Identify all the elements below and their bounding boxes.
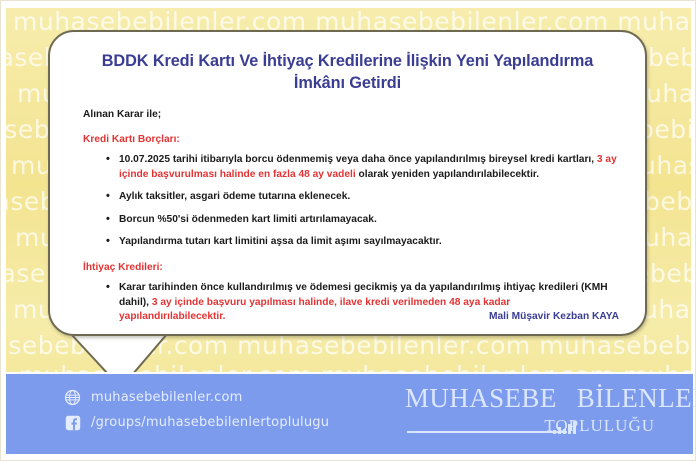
body-text: 10.07.2025 tarihi itibarıyla borcu ödenm… bbox=[119, 154, 597, 165]
section-credit-cards: Kredi Kartı Borçları: 10.07.2025 tarihi … bbox=[72, 133, 623, 250]
body-text: Aylık taksitler, asgari ödeme tutarına e… bbox=[119, 191, 350, 202]
list-item: Aylık taksitler, asgari ödeme tutarına e… bbox=[106, 190, 623, 205]
signature: Mali Müşavir Kezban KAYA bbox=[489, 311, 619, 322]
announcement-bubble: BDDK Kredi Kartı Ve İhtiyaç Kredilerine … bbox=[48, 30, 647, 336]
list-item: Borcun %50'si ödenmeden kart limiti artı… bbox=[106, 213, 623, 228]
poster-canvas: muhasebebilenler.com muhasebebilenler.co… bbox=[0, 0, 696, 461]
edge-top bbox=[1, 1, 696, 8]
highlighted-text: 3 ay içinde başvuru yapılması halinde, i… bbox=[119, 297, 510, 323]
list-item: Yapılandırma tutarı kart limitini aşsa d… bbox=[106, 235, 623, 250]
logo-word-1: MUHASEBE bbox=[405, 383, 557, 413]
footer-links: muhasebebilenler.com /groups/muhasebebil… bbox=[64, 389, 329, 439]
section-heading: Kredi Kartı Borçları: bbox=[83, 133, 623, 147]
section-heading: İhtiyaç Kredileri: bbox=[83, 261, 623, 275]
list-item: 10.07.2025 tarihi itibarıyla borcu ödenm… bbox=[106, 153, 623, 182]
bubble-content: BDDK Kredi Kartı Ve İhtiyaç Kredilerine … bbox=[50, 32, 645, 334]
body-text: olarak yeniden yapılandırılabilecektir. bbox=[356, 169, 539, 180]
logo-word-2: BİLENLER bbox=[577, 383, 696, 413]
brand-logo: MUHASEBE BİLENLER TOPLULUĞU bbox=[405, 384, 655, 446]
facebook-label: /groups/muhasebebilenlertoplulugu bbox=[91, 415, 329, 430]
body-text: Yapılandırma tutarı kart limitini aşsa d… bbox=[119, 236, 442, 247]
edge-bottom bbox=[1, 454, 696, 460]
footer-bar: muhasebebilenler.com /groups/muhasebebil… bbox=[6, 372, 693, 454]
bullet-list: 10.07.2025 tarihi itibarıyla borcu ödenm… bbox=[72, 153, 623, 250]
footer-facebook-row[interactable]: /groups/muhasebebilenlertoplulugu bbox=[64, 414, 329, 431]
facebook-icon bbox=[64, 414, 81, 431]
globe-icon bbox=[64, 389, 81, 406]
logo-subtitle: TOPLULUĞU bbox=[405, 416, 655, 436]
body-text: Borcun %50'si ödenmeden kart limiti artı… bbox=[119, 214, 377, 225]
page-title: BDDK Kredi Kartı Ve İhtiyaç Kredilerine … bbox=[84, 50, 611, 94]
lead-text: Alınan Karar ile; bbox=[83, 108, 623, 122]
website-label: muhasebebilenler.com bbox=[91, 390, 243, 405]
footer-website-row[interactable]: muhasebebilenler.com bbox=[64, 389, 329, 406]
logo-main-line: MUHASEBE BİLENLER bbox=[405, 384, 655, 414]
